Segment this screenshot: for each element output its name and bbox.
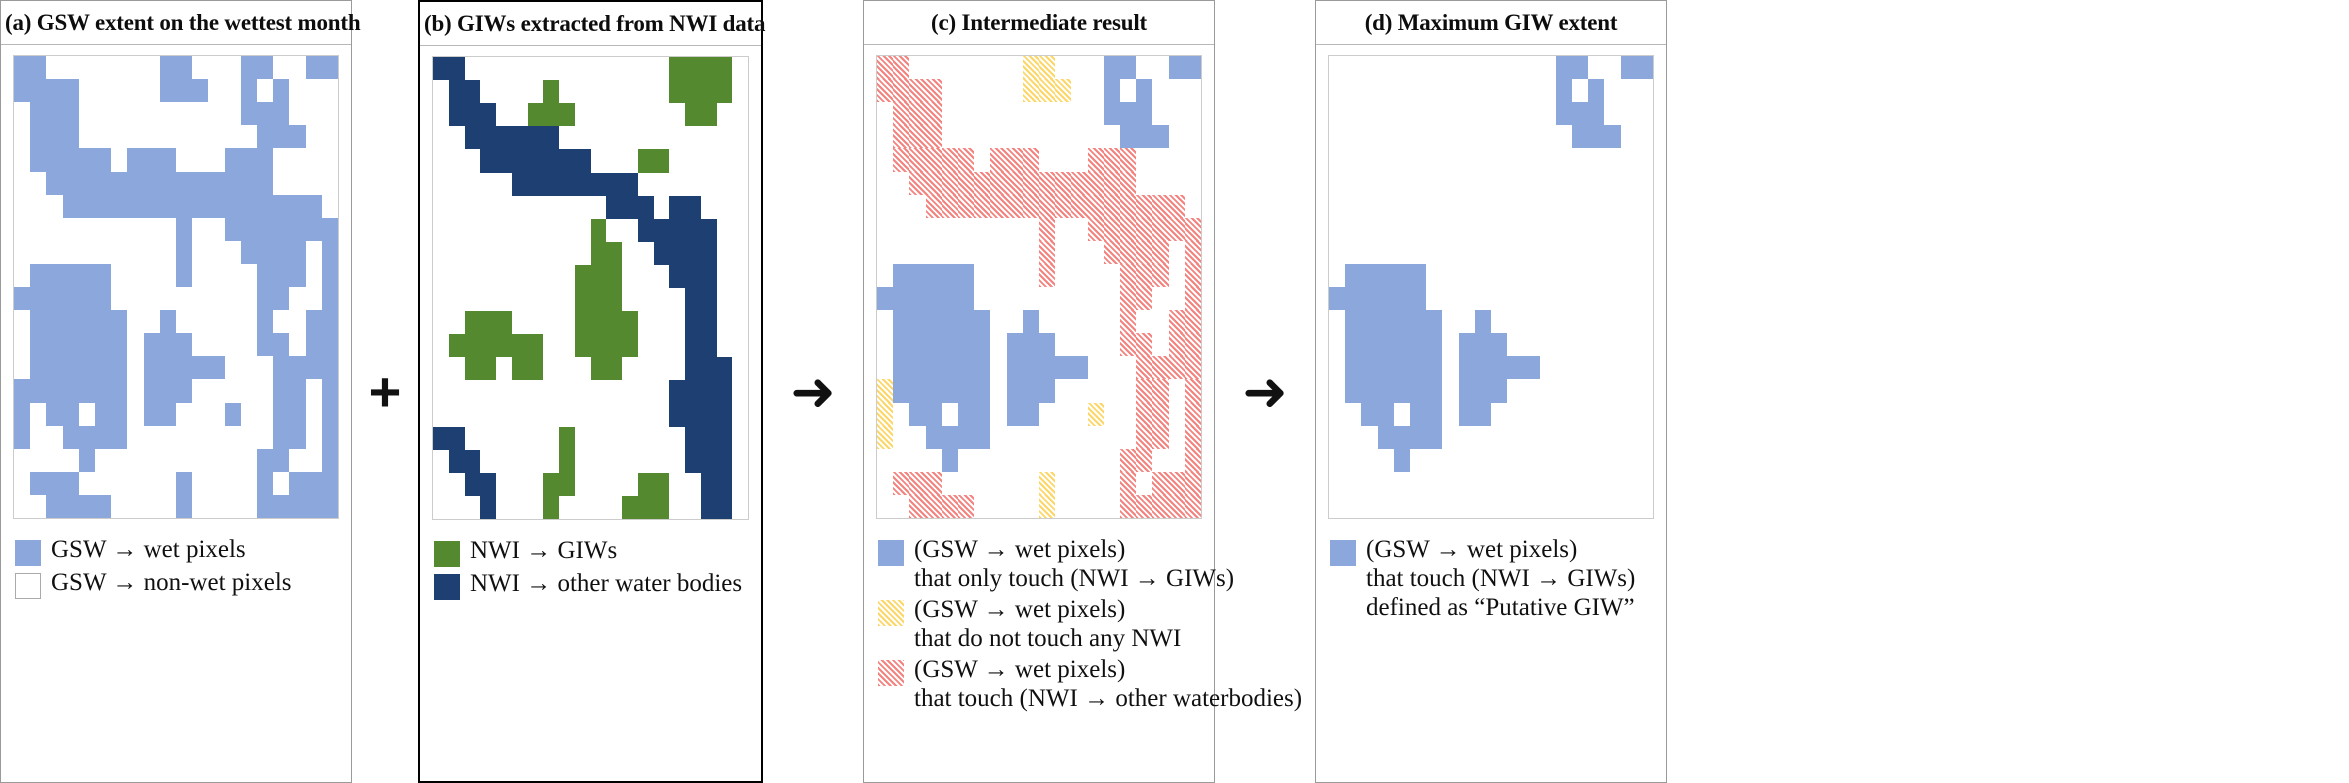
raster-cell [654,149,670,172]
raster-cell [926,403,942,426]
raster-cell [1169,426,1185,449]
raster-cell [1104,333,1120,356]
raster-cell [1556,472,1572,495]
raster-cell [591,80,607,103]
raster-cell [306,449,322,472]
raster-cell [1023,125,1039,148]
legend-label-line: (GSW → wet pixels) [914,596,1125,623]
raster-cell [1361,241,1377,264]
raster-cell [1459,102,1475,125]
raster-cell [192,449,208,472]
raster-cell [1459,472,1475,495]
raster-cell [1361,426,1377,449]
raster-cell [1136,218,1152,241]
raster-cell [1637,472,1653,495]
raster-cell [1637,195,1653,218]
raster-cell [1169,56,1185,79]
raster-cell [1185,403,1201,426]
raster-cell [127,148,143,171]
raster-cell [30,148,46,171]
raster-cell [942,495,958,518]
raster-cell [1088,56,1104,79]
raster-cell [289,403,305,426]
raster-cell [575,242,591,265]
raster-cell [958,56,974,79]
raster-cell [79,56,95,79]
legend-label-line: (GSW → wet pixels) [914,656,1125,683]
raster-cell [638,57,654,80]
raster-cell [654,126,670,149]
raster-cell [208,56,224,79]
raster-cell [732,450,748,473]
raster-cell [1378,241,1394,264]
raster-cell [1071,310,1087,333]
raster-cell [1136,102,1152,125]
raster-cell [1394,218,1410,241]
panel-a: (a) GSW extent on the wettest month GSW … [0,0,352,783]
raster-cell [79,379,95,402]
raster-cell [160,241,176,264]
raster-cell [1152,102,1168,125]
raster-cell [958,264,974,287]
raster-cell [1136,426,1152,449]
raster-cell [14,102,30,125]
raster-cell [1556,449,1572,472]
raster-cell [46,449,62,472]
raster-cell [1329,79,1345,102]
raster-cell [160,56,176,79]
raster-cell [241,426,257,449]
legend-label-line: that do not touch any NWI [914,624,1181,653]
raster-cell [877,403,893,426]
raster-cell [1329,218,1345,241]
raster-cell [622,219,638,242]
raster-cell [1637,125,1653,148]
legend-label-line: NWI → other water bodies [470,570,742,597]
raster-cell [1055,333,1071,356]
raster-cell [591,473,607,496]
raster-cell [1361,472,1377,495]
raster-cell [701,404,717,427]
raster-cell [893,333,909,356]
raster-cell [877,449,893,472]
raster-cell [225,148,241,171]
raster-cell [1071,264,1087,287]
raster-cell [144,495,160,518]
raster-cell [528,311,544,334]
raster-cell [701,149,717,172]
raster-cell [1055,356,1071,379]
raster-cell [1185,56,1201,79]
raster-cell [1410,79,1426,102]
raster-cell [575,126,591,149]
raster-cell [669,242,685,265]
raster-cell [1120,148,1136,171]
raster-cell [1023,287,1039,310]
raster-cell [1185,495,1201,518]
raster-cell [322,287,338,310]
raster-cell [1120,195,1136,218]
raster-cell [1345,148,1361,171]
raster-cell [701,80,717,103]
raster-cell [622,103,638,126]
legend-label-line: that touch (NWI → other waterbodies) [914,684,1302,713]
raster-cell [1475,333,1491,356]
raster-cell [1152,472,1168,495]
raster-cell [1136,241,1152,264]
raster-cell [974,218,990,241]
raster-cell [685,357,701,380]
raster-cell [63,264,79,287]
raster-cell [543,380,559,403]
raster-cell [1507,356,1523,379]
raster-cell [160,287,176,310]
raster-cell [144,310,160,333]
raster-cell [322,56,338,79]
raster-cell [591,380,607,403]
raster-cell [1621,495,1637,518]
raster-cell [1152,56,1168,79]
raster-cell [1637,426,1653,449]
raster-cell [669,404,685,427]
raster-cell [1459,379,1475,402]
raster-cell [1039,495,1055,518]
raster-cell [1329,241,1345,264]
raster-cell [717,450,733,473]
raster-cell [1426,125,1442,148]
raster-cell [273,403,289,426]
raster-cell [1345,449,1361,472]
raster-cell [701,357,717,380]
raster-cell [1378,379,1394,402]
raster-cell [1604,102,1620,125]
raster-cell [160,379,176,402]
raster-cell [942,426,958,449]
raster-cell [732,311,748,334]
raster-cell [512,450,528,473]
raster-cell [732,334,748,357]
raster-cell [1104,426,1120,449]
raster-cell [942,472,958,495]
raster-cell [480,149,496,172]
raster-cell [1361,264,1377,287]
raster-cell [622,57,638,80]
raster-cell [496,219,512,242]
raster-cell [909,287,925,310]
raster-cell [127,449,143,472]
raster-cell [1604,356,1620,379]
raster-cell [1104,264,1120,287]
raster-cell [1442,472,1458,495]
raster-cell [95,195,111,218]
raster-cell [289,195,305,218]
raster-cell [591,334,607,357]
raster-cell [909,79,925,102]
raster-cell [257,56,273,79]
raster-cell [909,310,925,333]
raster-cell [1039,426,1055,449]
raster-cell [14,148,30,171]
raster-cell [257,356,273,379]
raster-cell [974,195,990,218]
raster-cell [1459,310,1475,333]
raster-cell [322,495,338,518]
raster-cell [528,473,544,496]
raster-cell [543,149,559,172]
raster-cell [893,287,909,310]
raster-cell [14,79,30,102]
legend-row: GSW → non-wet pixels [15,568,341,599]
raster-cell [606,149,622,172]
raster-cell [1071,472,1087,495]
raster-cell [127,79,143,102]
raster-cell [14,495,30,518]
raster-cell [1185,79,1201,102]
raster-cell [1588,403,1604,426]
raster-cell [241,148,257,171]
legend-label: (GSW → wet pixels)that only touch (NWI →… [914,535,1234,593]
raster-cell [591,404,607,427]
raster-cell [512,242,528,265]
operator-arrow-1-column: ➜ [763,0,863,783]
raster-cell [1039,148,1055,171]
raster-cell [685,242,701,265]
raster-cell [1378,264,1394,287]
raster-cell [893,172,909,195]
raster-cell [1039,56,1055,79]
raster-cell [1378,287,1394,310]
raster-cell [942,172,958,195]
raster-cell [1345,310,1361,333]
arrow-right-icon-2: ➜ [1242,365,1287,419]
raster-cell [893,472,909,495]
raster-cell [622,380,638,403]
raster-cell [289,310,305,333]
raster-cell [1523,102,1539,125]
raster-cell [225,172,241,195]
raster-cell [1475,241,1491,264]
raster-cell [111,241,127,264]
raster-cell [63,79,79,102]
raster-cell [1426,495,1442,518]
raster-cell [1055,125,1071,148]
raster-cell [480,450,496,473]
raster-cell [1039,287,1055,310]
raster-cell [1152,310,1168,333]
raster-cell [942,241,958,264]
raster-cell [160,148,176,171]
raster-cell [1023,79,1039,102]
raster-cell [1023,426,1039,449]
raster-cell [465,404,481,427]
raster-cell [1185,426,1201,449]
raster-cell [257,195,273,218]
raster-cell [465,473,481,496]
raster-cell [63,102,79,125]
raster-cell [1185,333,1201,356]
raster-cell [1540,79,1556,102]
raster-cell [638,288,654,311]
raster-cell [512,334,528,357]
raster-cell [1088,310,1104,333]
raster-cell [958,241,974,264]
raster-cell [559,380,575,403]
raster-cell [63,449,79,472]
raster-cell [111,472,127,495]
raster-cell [1394,125,1410,148]
raster-cell [144,264,160,287]
raster-cell [433,496,449,519]
raster-cell [669,57,685,80]
raster-cell [1104,403,1120,426]
raster-cell [144,148,160,171]
raster-cell [192,172,208,195]
raster-cell [433,219,449,242]
raster-cell [1556,172,1572,195]
raster-cell [606,380,622,403]
raster-cell [63,125,79,148]
raster-cell [1572,79,1588,102]
raster-cell [990,333,1006,356]
raster-cell [1442,241,1458,264]
raster-cell [111,495,127,518]
raster-cell [701,473,717,496]
raster-cell [465,126,481,149]
raster-cell [14,356,30,379]
raster-cell [877,56,893,79]
raster-cell [685,196,701,219]
raster-cell [1637,148,1653,171]
raster-cell [30,172,46,195]
raster-cell [1507,287,1523,310]
raster-cell [701,450,717,473]
raster-cell [512,126,528,149]
raster-cell [176,310,192,333]
raster-cell [192,148,208,171]
raster-cell [1604,403,1620,426]
raster-cell [606,126,622,149]
raster-cell [1523,403,1539,426]
raster-cell [512,473,528,496]
raster-cell [1361,148,1377,171]
raster-cell [289,241,305,264]
raster-cell [622,473,638,496]
raster-cell [449,288,465,311]
raster-cell [974,333,990,356]
raster-cell [877,310,893,333]
raster-cell [685,288,701,311]
raster-cell [144,333,160,356]
raster-cell [1475,218,1491,241]
raster-cell [1345,472,1361,495]
raster-cell [1621,195,1637,218]
raster-cell [1621,218,1637,241]
raster-cell [241,379,257,402]
raster-cell [559,450,575,473]
raster-cell [543,473,559,496]
raster-cell [1442,56,1458,79]
raster-cell [1023,449,1039,472]
raster-cell [1410,379,1426,402]
raster-cell [306,195,322,218]
raster-cell [685,126,701,149]
raster-cell [176,472,192,495]
legend-row: (GSW → wet pixels)that only touch (NWI →… [878,535,1204,593]
legend-label-line: NWI → GIWs [470,537,617,564]
raster-cell [1475,125,1491,148]
raster-cell [1185,148,1201,171]
raster-cell [1071,356,1087,379]
raster-cell [669,334,685,357]
raster-cell [289,449,305,472]
raster-cell [1136,379,1152,402]
raster-cell [1540,56,1556,79]
raster-cell [1055,56,1071,79]
raster-cell [192,125,208,148]
raster-cell [46,241,62,264]
raster-cell [1055,495,1071,518]
raster-cell [127,125,143,148]
raster-cell [433,57,449,80]
raster-cell [79,148,95,171]
raster-cell [1185,449,1201,472]
raster-cell [1007,264,1023,287]
raster-cell [1394,333,1410,356]
raster-cell [306,472,322,495]
legend-swatch-icon [434,574,460,600]
raster-cell [701,103,717,126]
raster-cell [926,333,942,356]
raster-cell [1475,195,1491,218]
raster-cell [732,473,748,496]
raster-cell [974,264,990,287]
raster-cell [958,495,974,518]
raster-cell [1378,102,1394,125]
raster-cell [1345,102,1361,125]
raster-cell [909,379,925,402]
raster-cell [14,449,30,472]
raster-cell [241,241,257,264]
raster-cell [225,426,241,449]
raster-cell [732,149,748,172]
raster-cell [1055,172,1071,195]
raster-cell [1104,356,1120,379]
raster-cell [1637,264,1653,287]
raster-cell [1394,241,1410,264]
raster-cell [1329,495,1345,518]
panel-b-raster [432,56,749,520]
raster-cell [1120,379,1136,402]
raster-cell [1459,287,1475,310]
raster-cell [241,333,257,356]
raster-cell [926,426,942,449]
panel-a-title: (a) GSW extent on the wettest month [1,1,351,45]
raster-cell [1491,79,1507,102]
raster-cell [575,265,591,288]
raster-cell [732,427,748,450]
raster-cell [1410,264,1426,287]
raster-cell [1169,356,1185,379]
raster-cell [543,57,559,80]
raster-cell [1426,79,1442,102]
raster-cell [575,196,591,219]
raster-cell [1329,356,1345,379]
raster-cell [176,287,192,310]
raster-cell [1152,287,1168,310]
raster-cell [1007,56,1023,79]
raster-cell [638,380,654,403]
raster-cell [1426,472,1442,495]
